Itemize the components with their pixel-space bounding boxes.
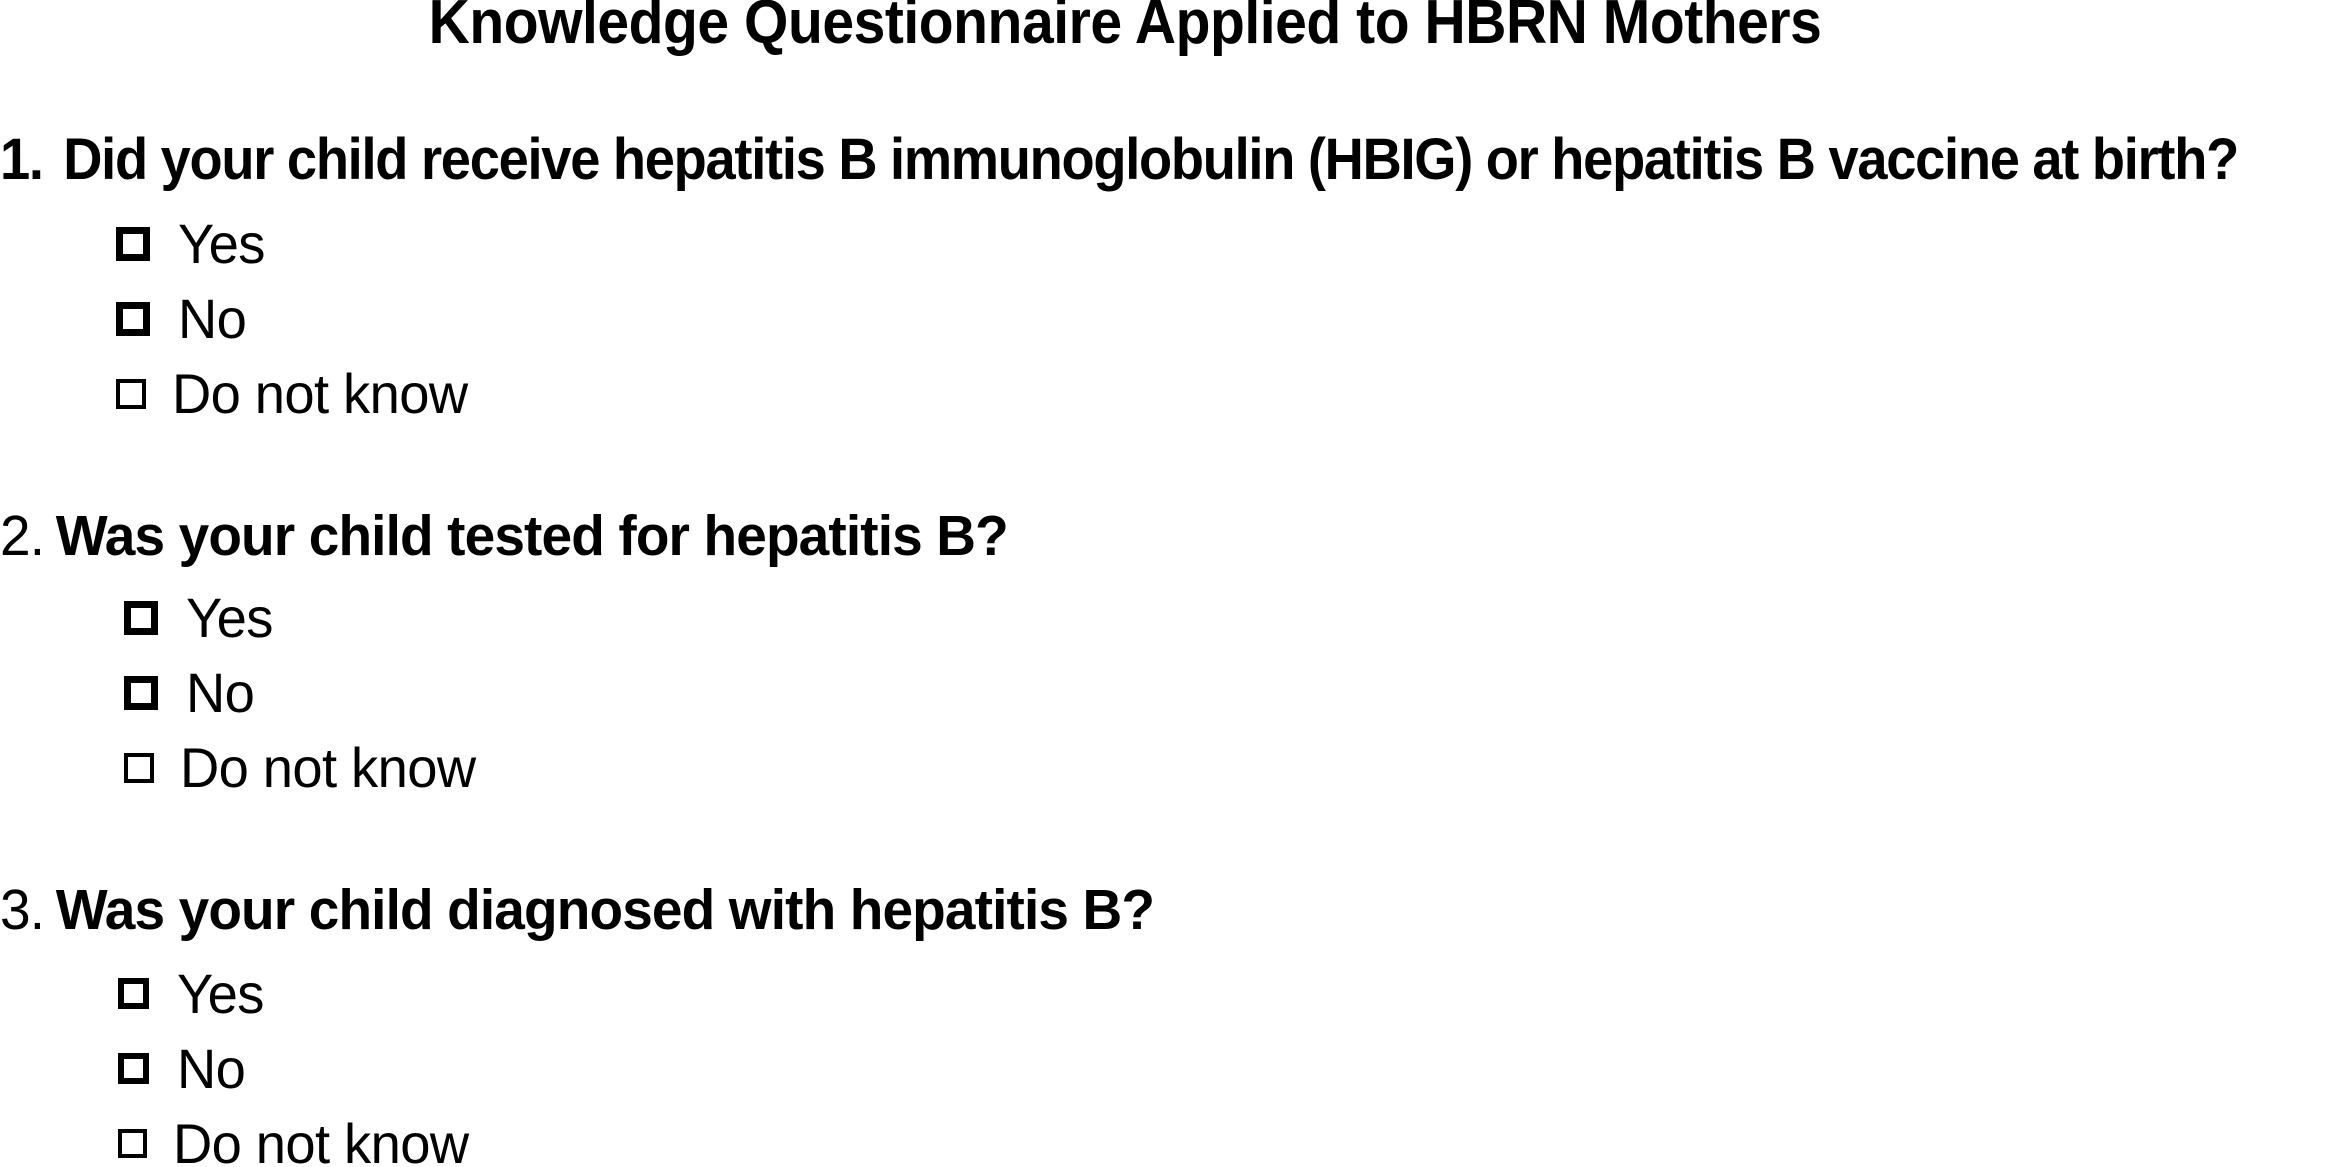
- unchecked-checkbox-icon[interactable]: [118, 1129, 147, 1158]
- option-row[interactable]: Do not know: [118, 1106, 2326, 1167]
- unchecked-checkbox-icon[interactable]: [118, 1053, 149, 1084]
- question-1-text: Did your child receive hepatitis B immun…: [63, 127, 2238, 192]
- option-row[interactable]: Do not know: [124, 730, 2326, 805]
- unchecked-checkbox-icon[interactable]: [124, 676, 158, 710]
- option-row[interactable]: Yes: [118, 956, 2326, 1031]
- question-1-line: 1.Did your child receive hepatitis B imm…: [0, 128, 2175, 192]
- option-row[interactable]: Yes: [124, 580, 2326, 655]
- unchecked-checkbox-icon[interactable]: [116, 227, 150, 261]
- question-block-1: 1.Did your child receive hepatitis B imm…: [0, 128, 2326, 431]
- question-3-text: Was your child diagnosed with hepatitis …: [56, 878, 1154, 942]
- question-block-3: 3.Was your child diagnosed with hepatiti…: [0, 878, 2326, 1167]
- question-2-line: 2.Was your child tested for hepatitis B?: [0, 504, 2245, 568]
- option-row[interactable]: Do not know: [116, 356, 2326, 431]
- question-3-options: Yes No Do not know: [0, 956, 2326, 1167]
- unchecked-checkbox-icon[interactable]: [124, 753, 154, 783]
- option-label: Yes: [186, 588, 273, 648]
- unchecked-checkbox-icon[interactable]: [116, 302, 150, 336]
- option-row[interactable]: No: [124, 655, 2326, 730]
- option-row[interactable]: No: [116, 281, 2326, 356]
- option-label: No: [186, 663, 254, 723]
- question-1-options: Yes No Do not know: [0, 206, 2326, 431]
- question-3-number: 3.: [0, 878, 44, 942]
- page-title: Knowledge Questionnaire Applied to HBRN …: [90, 0, 2160, 58]
- option-label: No: [178, 289, 246, 349]
- option-label: Yes: [177, 964, 264, 1024]
- unchecked-checkbox-icon[interactable]: [118, 978, 149, 1009]
- question-block-2: 2.Was your child tested for hepatitis B?…: [0, 504, 2326, 805]
- question-2-options: Yes No Do not know: [0, 580, 2326, 805]
- question-3-line: 3.Was your child diagnosed with hepatiti…: [0, 878, 2245, 942]
- option-label: Do not know: [173, 1114, 469, 1167]
- option-label: No: [177, 1039, 245, 1099]
- questionnaire-page: Knowledge Questionnaire Applied to HBRN …: [0, 0, 2326, 1167]
- option-label: Do not know: [172, 364, 468, 424]
- unchecked-checkbox-icon[interactable]: [116, 379, 146, 409]
- question-2-number: 2.: [0, 504, 44, 568]
- option-row[interactable]: Yes: [116, 206, 2326, 281]
- question-2-text: Was your child tested for hepatitis B?: [56, 504, 1008, 568]
- option-label: Do not know: [180, 738, 476, 798]
- option-row[interactable]: No: [118, 1031, 2326, 1106]
- unchecked-checkbox-icon[interactable]: [124, 601, 158, 635]
- question-1-number: 1.: [0, 128, 43, 192]
- option-label: Yes: [178, 214, 265, 274]
